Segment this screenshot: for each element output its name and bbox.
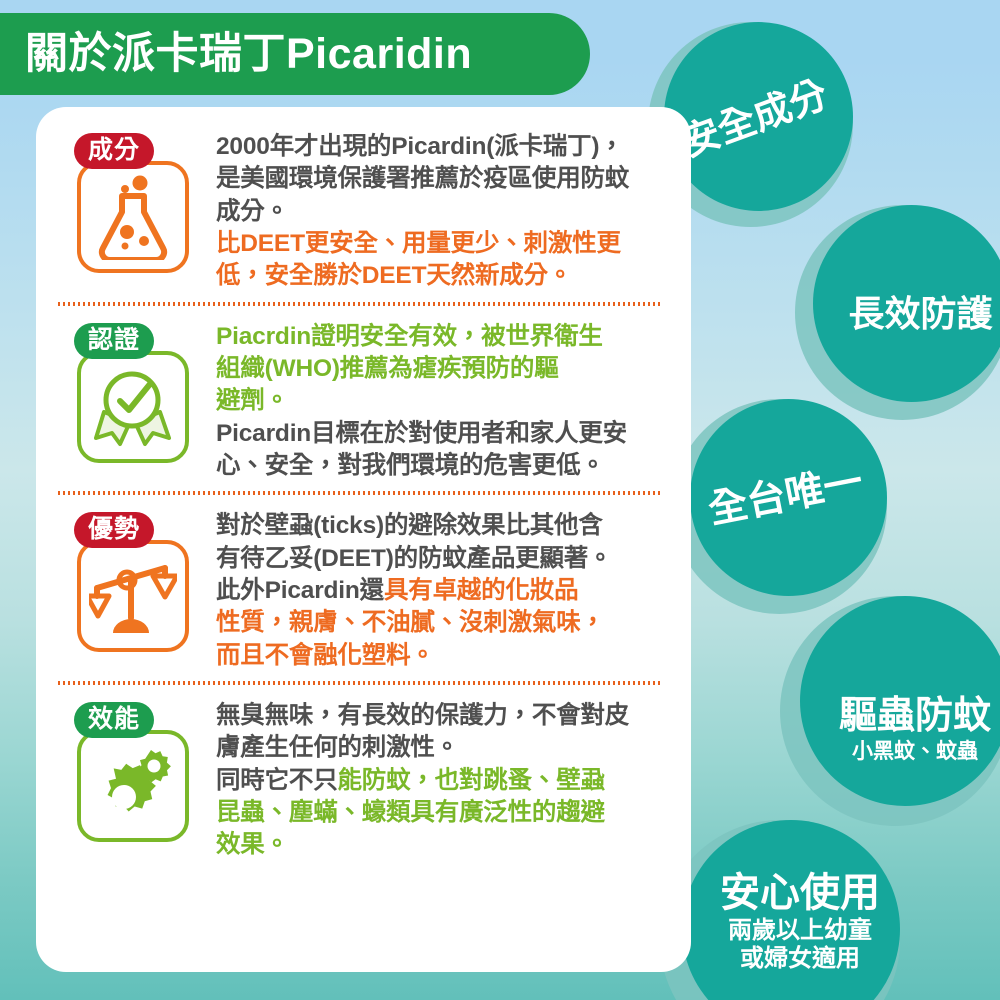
- text-line: 無臭無味，有長效的保護力，不會對皮: [216, 700, 669, 732]
- bubble-only-taiwan: 全台唯一: [672, 399, 887, 614]
- text-line: 成分。: [216, 196, 669, 228]
- text-line: 性質，親膚、不油膩、沒刺激氣味，: [216, 607, 669, 639]
- section-efficacy: 效能 無臭無味，有長效的保護力，不會對皮 膚產生任何的刺激性。 同時它不只能防蚊…: [54, 694, 673, 862]
- bubble-front-circle: [813, 205, 1000, 402]
- section-badge: 優勢: [74, 512, 154, 548]
- section-divider: [58, 491, 663, 495]
- text-line: 比DEET更安全、用量更少、刺激性更: [216, 228, 669, 260]
- icon-box: 優勢: [74, 512, 200, 662]
- award-check-icon: [77, 351, 189, 463]
- icon-box: 效能: [74, 702, 200, 852]
- balance-scale-icon: [77, 540, 189, 652]
- bubble-long-protection: 長效防護: [795, 205, 1000, 420]
- bubble-repel-insects: 驅蟲防蚊 小黑蚊、蚊蟲: [780, 596, 1000, 826]
- text-line: 膚產生任何的刺激性。: [216, 732, 669, 764]
- text-line: 效果。: [216, 829, 669, 861]
- page-title-banner: 關於派卡瑞丁Picaridin: [0, 13, 590, 95]
- section-badge: 效能: [74, 702, 154, 738]
- flask-icon: [77, 161, 189, 273]
- text-line-mixed: 此外Picardin還具有卓越的化妝品: [216, 575, 669, 607]
- text-line: 對於壁蝨(ticks)的避除效果比其他含: [216, 510, 669, 542]
- text-line: 2000年才出現的Picardin(派卡瑞丁)，: [216, 131, 669, 163]
- text-line: 有待乙妥(DEET)的防蚊產品更顯著。: [216, 543, 669, 575]
- text-part-gray: 同時它不只: [216, 767, 338, 794]
- section-badge: 認證: [74, 323, 154, 359]
- content-card: 成分 2000年才出現的Picardin(派卡瑞丁)， 是美國環境保護署推薦於疫…: [36, 107, 691, 972]
- text-line: 避劑。: [216, 385, 669, 417]
- text-part-gray: 此外Picardin還: [216, 577, 384, 604]
- section-advantage: 優勢 對於壁蝨(ticks)的避除效果比其他含 有待乙妥(DEET)的防蚊產品更…: [54, 504, 673, 672]
- text-line: Piacrdin證明安全有效，被世界衛生: [216, 321, 669, 353]
- icon-box: 成分: [74, 133, 200, 283]
- gears-icon: [77, 730, 189, 842]
- bubble-front-circle: [690, 399, 887, 596]
- section-badge: 成分: [74, 133, 154, 169]
- text-part-accent: 具有卓越的化妝品: [384, 577, 578, 604]
- section-certification: 認證 Piacrdin證明安全有效，被世界衛生 組織(WHO)推薦為瘧疾預防的驅…: [54, 315, 673, 483]
- section-text: 無臭無味，有長效的保護力，不會對皮 膚產生任何的刺激性。 同時它不只能防蚊，也對…: [200, 694, 673, 862]
- section-divider: [58, 302, 663, 306]
- section-text: 對於壁蝨(ticks)的避除效果比其他含 有待乙妥(DEET)的防蚊產品更顯著。…: [200, 504, 673, 672]
- text-line-mixed: 同時它不只能防蚊，也對跳蚤、壁蝨: [216, 765, 669, 797]
- bubble-front-circle: [664, 22, 853, 211]
- text-line: 心、安全，對我們環境的危害更低。: [216, 450, 669, 482]
- infographic-poster: 安全成分 長效防護 全台唯一 驅蟲防蚊 小黑蚊、蚊蟲 安心使用 兩歲以上幼童 或…: [0, 0, 1000, 1000]
- icon-box: 認證: [74, 323, 200, 473]
- page-title: 關於派卡瑞丁Picaridin: [25, 33, 472, 76]
- text-line: 是美國環境保護署推薦於疫區使用防蚊: [216, 163, 669, 195]
- text-line: 組織(WHO)推薦為瘧疾預防的驅: [216, 353, 669, 385]
- text-line: 昆蟲、塵蟎、蠔類具有廣泛性的趨避: [216, 797, 669, 829]
- bubble-front-circle: [800, 596, 1000, 806]
- section-text: 2000年才出現的Picardin(派卡瑞丁)， 是美國環境保護署推薦於疫區使用…: [200, 125, 673, 293]
- section-text: Piacrdin證明安全有效，被世界衛生 組織(WHO)推薦為瘧疾預防的驅 避劑…: [200, 315, 673, 483]
- section-ingredient: 成分 2000年才出現的Picardin(派卡瑞丁)， 是美國環境保護署推薦於疫…: [54, 125, 673, 293]
- text-line: 低，安全勝於DEET天然新成分。: [216, 260, 669, 292]
- section-divider: [58, 681, 663, 685]
- text-part-accent: 能防蚊，也對跳蚤、壁蝨: [338, 767, 605, 794]
- text-line: 而且不會融化塑料。: [216, 640, 669, 672]
- bubble-safe-use: 安心使用 兩歲以上幼童 或婦女適用: [660, 820, 900, 1000]
- text-line: Picardin目標在於對使用者和家人更安: [216, 418, 669, 450]
